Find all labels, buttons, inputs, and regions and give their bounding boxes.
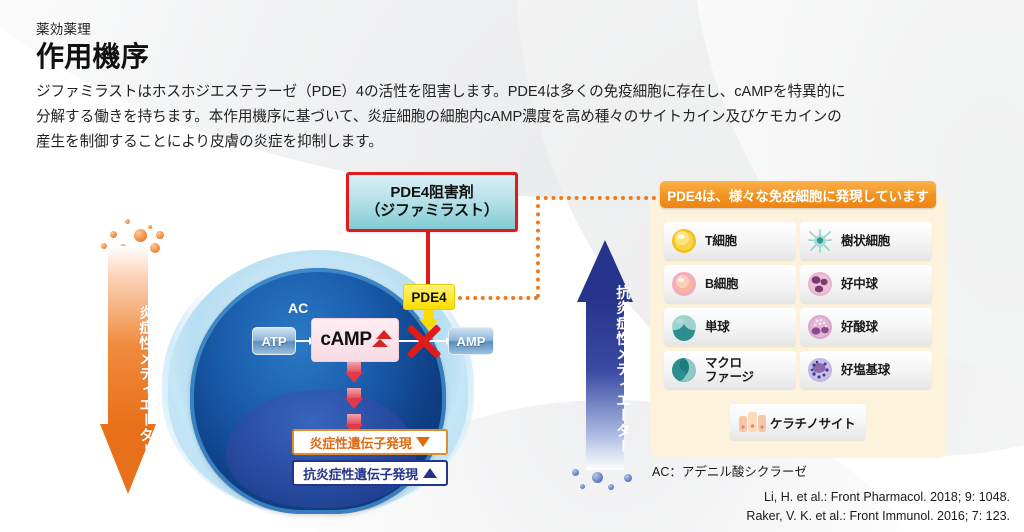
basophil-icon [806,356,834,384]
anti-inflammatory-gene-label: 抗炎症性遺伝子発現 [303,464,418,483]
camp-increase-icon [372,328,390,352]
pde4-node: PDE4 [403,284,455,310]
cell-label: ケラチノサイト [770,413,855,432]
cell-label: 好酸球 [841,320,878,334]
cell-item-keratinocyte[interactable]: ケラチノサイト [730,404,866,440]
cell-label: 好中球 [841,277,878,291]
slide-canvas: 薬効薬理 作用機序 ジファミラストはホスホジエステラーゼ（PDE）4の活性を阻害… [0,0,1024,532]
drug-box-line-1: PDE4阻害剤 [390,184,473,202]
page-header: 薬効薬理 作用機序 [36,22,149,74]
keratinocyte-icon [738,409,764,435]
cell-label: 樹状細胞 [841,234,890,248]
panel-title: PDE4は、様々な免疫細胞に発現しています [667,185,929,205]
inflammatory-gene-label: 炎症性遺伝子発現 [310,433,412,452]
reference-1: Li, H. et al.: Front Pharmacol. 2018; 9:… [700,488,1010,507]
anti-inflammatory-gene-box: 抗炎症性遺伝子発現 [292,460,448,486]
macrophage-icon [670,356,698,384]
cell-item-basophil[interactable]: 好塩基球 [800,351,932,389]
intro-line-2: 分解する働きを持ちます。本作用機序に基づいて、炎症細胞の細胞内cAMP濃度を高め… [36,105,996,130]
cell-item-eosinophil[interactable]: 好酸球 [800,308,932,346]
abbreviation-note: AC：アデニル酸シクラーゼ [652,461,807,480]
camp-node: cAMP [311,318,399,362]
b-cell-icon [670,270,698,298]
cell-item-monocyte[interactable]: 単球 [664,308,796,346]
cell-label: B細胞 [705,277,738,291]
cell-label: 単球 [705,320,730,334]
intro-paragraph: ジファミラストはホスホジエステラーゼ（PDE）4の活性を阻害します。PDE4は多… [36,80,996,156]
increase-icon [423,468,437,478]
pde4-inhibitor-box: PDE4阻害剤 （ジファミラスト） [346,172,518,232]
drug-box-line-2: （ジファミラスト） [365,202,498,220]
atp-to-camp-arrow [296,340,310,342]
intro-line-1: ジファミラストはホスホジエステラーゼ（PDE）4の活性を阻害します。PDE4は多… [36,80,996,105]
cell-item-macrophage[interactable]: マクロ ファージ [664,351,796,389]
neutrophil-icon [806,270,834,298]
page-title: 作用機序 [36,40,149,74]
inflammatory-mediator-arrow: 炎症性メディエーター [100,246,156,494]
connector-segment-horizontal-1 [458,296,538,300]
inflammatory-mediator-label: 炎症性メディエーター [100,280,156,480]
anti-inflammatory-mediator-label: 抗炎症性メディエーター [577,262,633,472]
intro-line-3: 産生を制御することにより皮膚の炎症を抑制します。 [36,130,996,155]
cell-label: 好塩基球 [841,363,890,377]
anti-inflammatory-mediator-arrow: 抗炎症性メディエーター [577,240,633,480]
camp-label: cAMP [320,329,371,351]
cell-item-t-cell[interactable]: T細胞 [664,222,796,260]
t-cell-icon [670,227,698,255]
monocyte-icon [670,313,698,341]
cell-item-dendritic-cell[interactable]: 樹状細胞 [800,222,932,260]
cell-item-neutrophil[interactable]: 好中球 [800,265,932,303]
dendritic-cell-icon [806,227,834,255]
immune-cell-grid: T細胞 樹状細胞 [664,222,932,389]
connector-segment-horizontal-2 [536,196,656,200]
amp-node: AMP [448,327,494,355]
panel-title-banner: PDE4は、様々な免疫細胞に発現しています [660,181,936,208]
inflammatory-gene-box: 炎症性遺伝子発現 [292,429,448,455]
inhibition-stem [426,226,430,288]
cell-item-b-cell[interactable]: B細胞 [664,265,796,303]
ac-label: AC [288,300,308,316]
cell-label: マクロ ファージ [705,356,754,385]
eosinophil-icon [806,313,834,341]
connector-segment-vertical [536,196,540,298]
atp-node: ATP [252,327,296,355]
blocked-x-icon [404,322,442,360]
reference-2: Raker, V. K. et al.: Front Immunol. 2016… [700,507,1010,526]
cell-label: T細胞 [705,234,737,248]
header-kicker: 薬効薬理 [36,22,149,38]
decrease-icon [416,437,430,447]
reference-list: Li, H. et al.: Front Pharmacol. 2018; 9:… [700,488,1010,526]
